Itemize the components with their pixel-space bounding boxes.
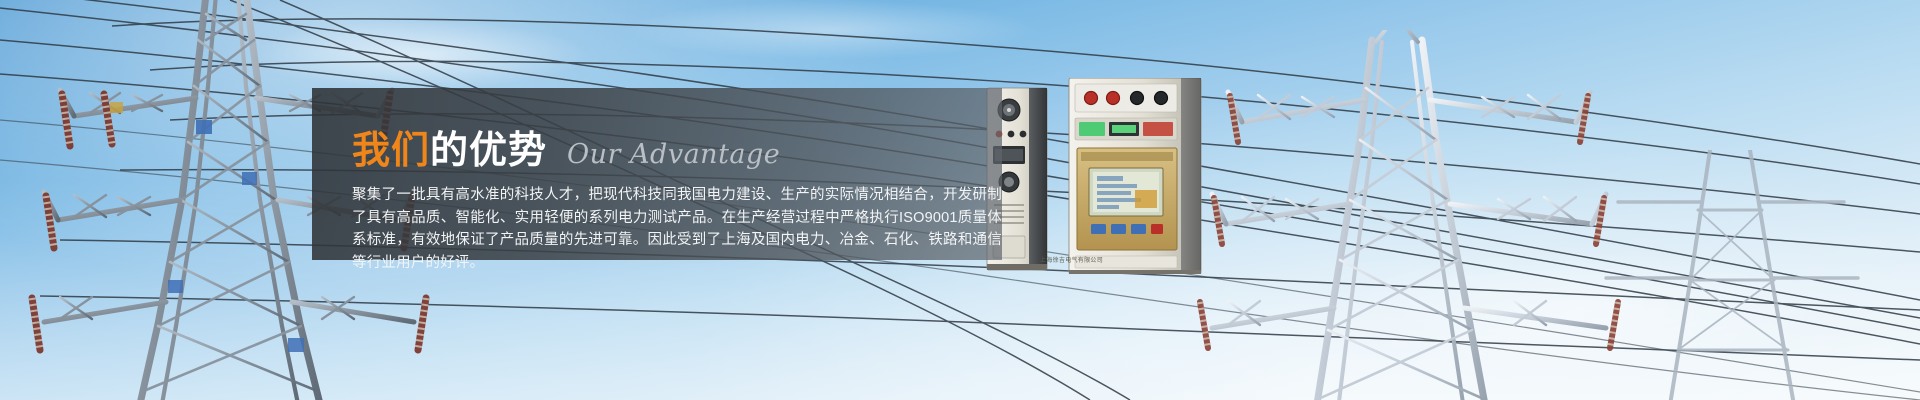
power-test-instruments [985,78,1220,274]
body-paragraph: 聚集了一批具有高水准的科技人才，把现代科技同我国电力建设、生产的实际情况相结合，… [352,184,1002,274]
headline-accent: 我们 [352,130,430,172]
headline: 我们的优势Our Advantage [352,132,780,170]
text-content-block: 我们的优势Our Advantage 聚集了一批具有高水准的科技人才，把现代科技… [352,88,1012,260]
advantage-banner: 上海徐吉电气有限公司 我们的优势Our Advantage 聚集了一批具有高水准… [0,0,1920,400]
headline-english: Our Advantage [567,139,780,170]
cabinet-company-label: 上海徐吉电气有限公司 [1040,255,1103,264]
power-test-cabinet-right [1069,78,1201,274]
headline-main: 的优势 [430,130,547,172]
body-paragraph-text: 聚集了一批具有高水准的科技人才，把现代科技同我国电力建设、生产的实际情况相结合，… [352,184,1002,274]
transmission-tower-right [1190,30,1630,400]
